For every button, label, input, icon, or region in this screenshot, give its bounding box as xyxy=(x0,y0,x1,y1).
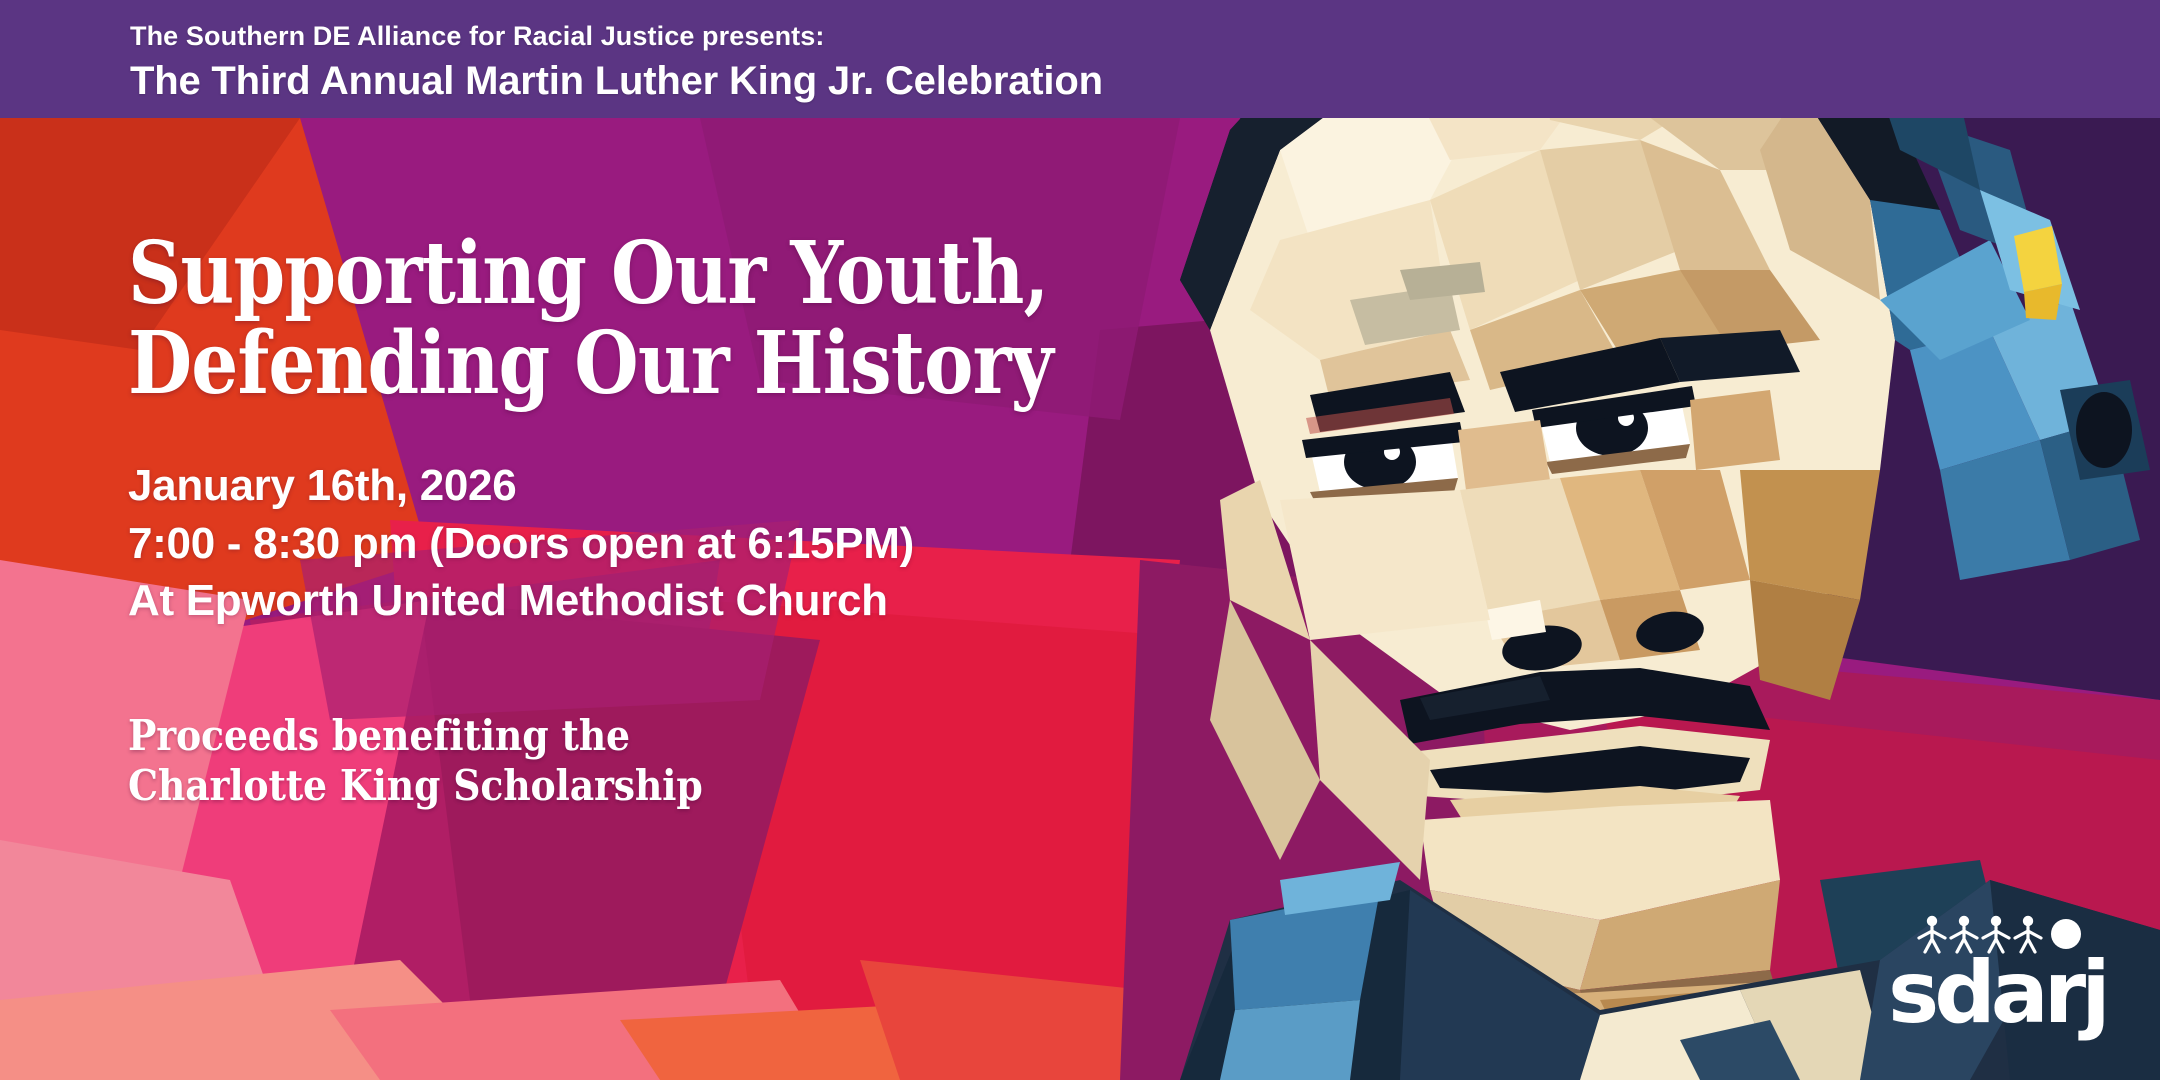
headline-line-1: Supporting Our Youth, xyxy=(128,230,1053,318)
sdarj-logo: sdarj xyxy=(1888,912,2078,1032)
event-date: January 16th, 2026 xyxy=(128,457,1203,514)
headline: Supporting Our Youth, Defending Our Hist… xyxy=(128,230,1053,407)
proceeds-line-1: Proceeds benefiting the xyxy=(128,711,1096,761)
event-details: January 16th, 2026 7:00 - 8:30 pm (Doors… xyxy=(128,457,1203,629)
sdarj-wordmark: sdarj xyxy=(1888,950,2106,1036)
event-title: The Third Annual Martin Luther King Jr. … xyxy=(130,56,1103,106)
event-venue: At Epworth United Methodist Church xyxy=(128,572,1203,629)
presenter-line: The Southern DE Alliance for Racial Just… xyxy=(130,20,1103,54)
proceeds-note: Proceeds benefiting the Charlotte King S… xyxy=(128,711,1096,810)
header-text-block: The Southern DE Alliance for Racial Just… xyxy=(130,20,1103,106)
poster-canvas: The Southern DE Alliance for Racial Just… xyxy=(0,0,2160,1080)
copy-block: Supporting Our Youth, Defending Our Hist… xyxy=(128,230,1203,810)
event-time: 7:00 - 8:30 pm (Doors open at 6:15PM) xyxy=(128,515,1203,572)
proceeds-line-2: Charlotte King Scholarship xyxy=(128,761,1096,811)
headline-line-2: Defending Our History xyxy=(128,320,1053,408)
